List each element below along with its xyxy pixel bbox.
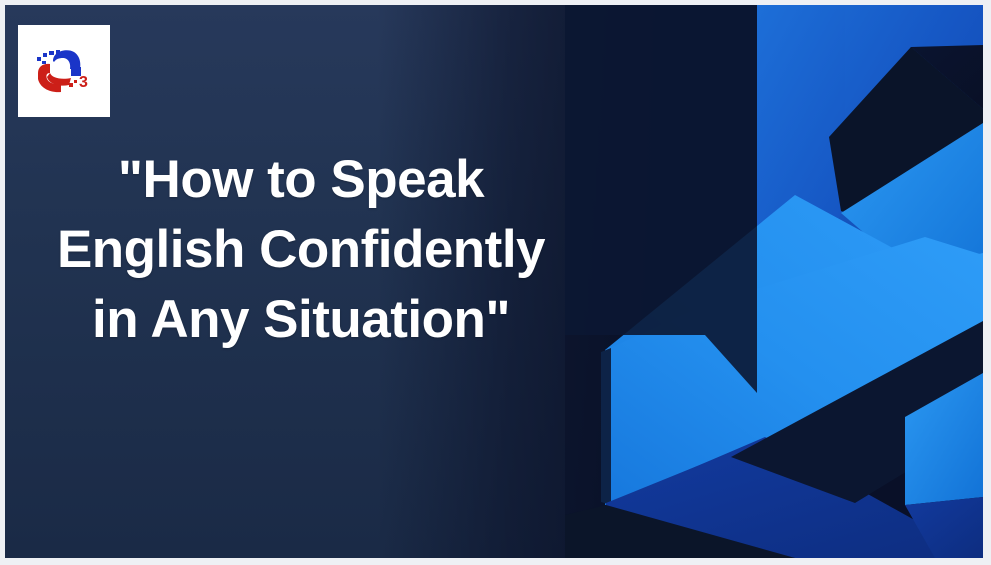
- logo-numeral: 3: [79, 74, 88, 91]
- brand-logo[interactable]: 3: [18, 25, 110, 117]
- ribbon-chevron-left-edge: [601, 348, 611, 505]
- logo-mark-icon: 3: [33, 47, 95, 95]
- banner-canvas: "How to Speak English Confidently in Any…: [5, 5, 983, 558]
- banner-frame: "How to Speak English Confidently in Any…: [0, 0, 991, 565]
- ribbon-dark-top-left: [565, 5, 757, 393]
- page-title: "How to Speak English Confidently in Any…: [51, 145, 551, 355]
